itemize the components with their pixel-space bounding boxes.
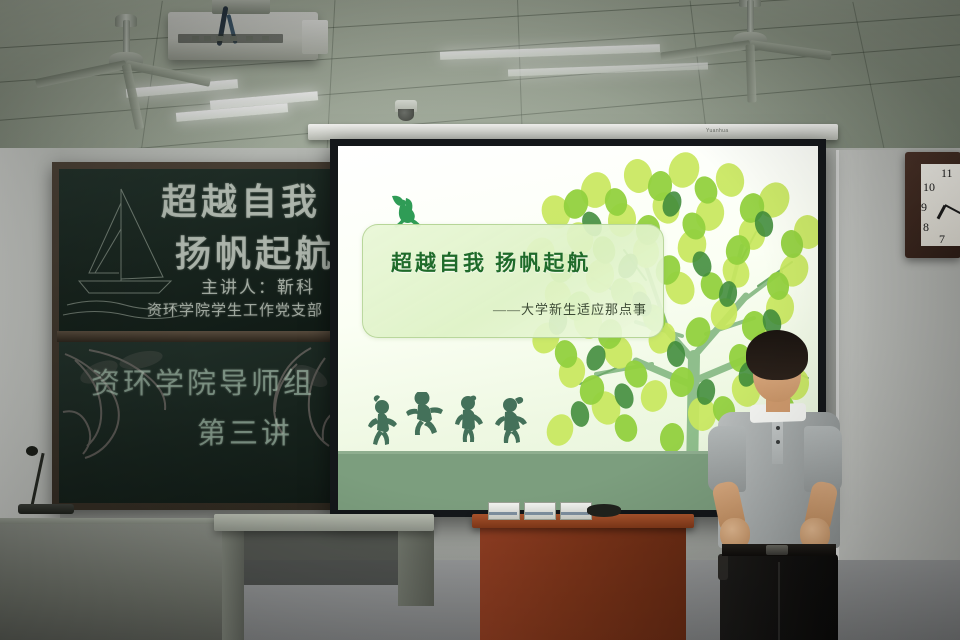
blackboard-line-2: 扬帆起航 <box>175 225 335 277</box>
running-children-silhouettes <box>368 392 548 458</box>
blackboard-lower-line-2: 第三讲 <box>197 410 293 452</box>
clock-hand-hour <box>937 205 947 220</box>
slide-title: 超越自我 扬帆起航 <box>391 247 591 277</box>
slide-title-box: 超越自我 扬帆起航 ——大学新生适应那点事 <box>362 224 664 338</box>
lectern-box <box>488 502 520 520</box>
clock-number: 10 <box>923 180 935 195</box>
blackboard-line-4: 资环学院学生工作党支部 <box>147 299 323 320</box>
blackboard: 超越自我 扬帆起航 主讲人：靳科 资环学院学生工作党支部 <box>52 162 352 510</box>
blackboard-bottom-panel: 资环学院导师组 第三讲 <box>59 342 345 503</box>
blackboard-lower-line-1: 资环学院导师组 <box>91 360 315 402</box>
blackboard-rail <box>57 331 347 342</box>
classroom-photo: 11 10 9 8 7 超越自我 <box>0 0 960 640</box>
teachers-desk <box>214 514 434 531</box>
clock-number: 9 <box>921 200 927 215</box>
lectern-cable <box>587 504 621 517</box>
presenter-hair <box>746 330 808 380</box>
clock-face: 11 10 9 8 7 <box>921 164 960 246</box>
clock-hand-minute <box>945 204 960 216</box>
desk-leg <box>222 528 244 640</box>
wooden-lectern <box>480 524 686 640</box>
wall-clock: 11 10 9 8 7 <box>905 152 960 258</box>
fairy-silhouette <box>386 194 430 228</box>
presenter <box>700 330 850 640</box>
microphone-base <box>18 504 74 514</box>
slide-subtitle: ——大学新生适应那点事 <box>493 299 647 318</box>
clock-number: 7 <box>939 232 945 247</box>
presenter-belt-buckle <box>766 545 788 555</box>
lectern-box <box>524 502 556 520</box>
gooseneck-microphone <box>26 446 38 456</box>
clock-number: 8 <box>923 220 929 235</box>
desk-side <box>398 528 434 606</box>
clock-number: 11 <box>941 166 953 181</box>
screen-brand-label: Yuanhua <box>706 128 729 134</box>
blackboard-line-1: 超越自我 <box>161 173 321 225</box>
blackboard-top-panel: 超越自我 扬帆起航 主讲人：靳科 资环学院学生工作党支部 <box>59 169 345 331</box>
blackboard-line-3: 主讲人：靳科 <box>201 273 315 298</box>
projection-screen-housing: Yuanhua <box>308 124 838 140</box>
metal-cabinet <box>0 524 232 640</box>
